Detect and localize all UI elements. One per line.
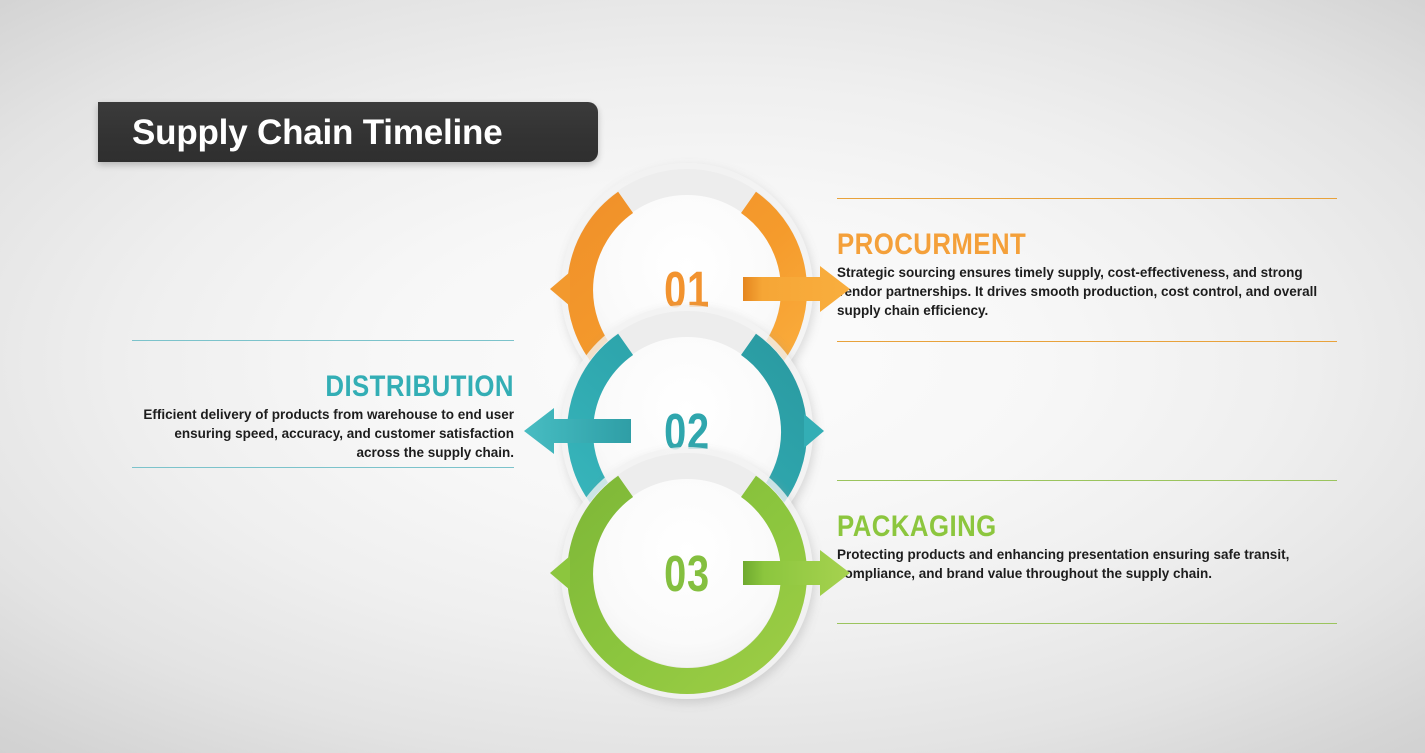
page-title: Supply Chain Timeline bbox=[132, 115, 503, 150]
step-panel-distribution: DISTRIBUTION Efficient delivery of produ… bbox=[132, 340, 514, 468]
step-panel-packaging: PACKAGING Protecting products and enhanc… bbox=[837, 480, 1337, 624]
panel-body-packaging: Protecting products and enhancing presen… bbox=[837, 545, 1337, 583]
panel-heading-procurement: PROCURMENT bbox=[837, 229, 1267, 261]
panel-rule-bottom-packaging bbox=[837, 623, 1337, 624]
panel-body-procurement: Strategic sourcing ensures timely supply… bbox=[837, 263, 1337, 320]
panel-rule-bottom-distribution bbox=[132, 467, 514, 468]
step-ring-03: 03 bbox=[558, 444, 816, 702]
panel-heading-packaging: PACKAGING bbox=[837, 511, 1267, 543]
panel-body-distribution: Efficient delivery of products from ware… bbox=[132, 405, 514, 462]
flow-marker-left-03 bbox=[550, 556, 570, 590]
step-panel-procurement: PROCURMENT Strategic sourcing ensures ti… bbox=[837, 198, 1337, 342]
panel-heading-distribution: DISTRIBUTION bbox=[185, 371, 514, 403]
panel-rule-bottom-procurement bbox=[837, 341, 1337, 342]
ring-graphic-03 bbox=[516, 430, 858, 716]
infographic-canvas: Supply Chain Timeline bbox=[0, 0, 1425, 753]
